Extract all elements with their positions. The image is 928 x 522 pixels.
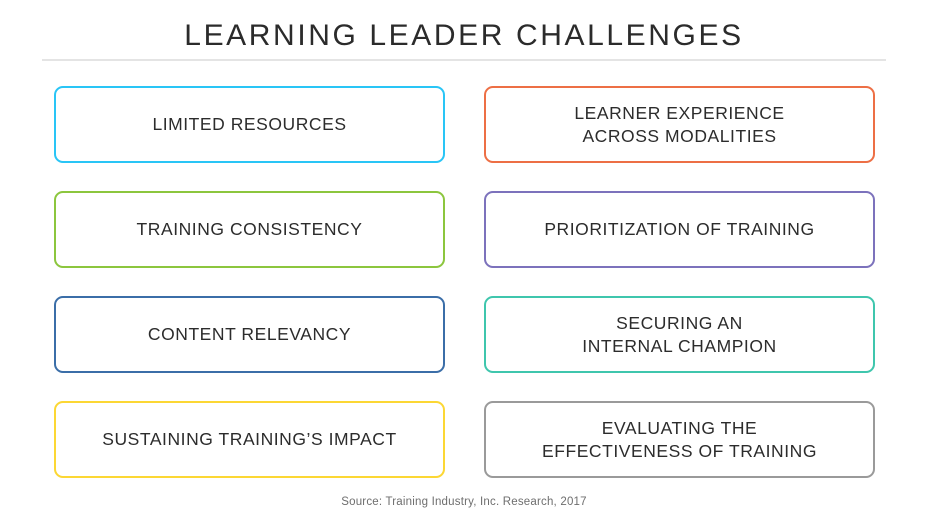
challenge-card-label: EVALUATING THE EFFECTIVENESS OF TRAINING [542,417,817,463]
title-divider [42,59,886,61]
source-note: Source: Training Industry, Inc. Research… [0,496,928,508]
challenge-card-evaluating-effectiveness[interactable]: EVALUATING THE EFFECTIVENESS OF TRAINING [484,401,875,478]
challenge-card-content-relevancy[interactable]: CONTENT RELEVANCY [54,296,445,373]
challenge-card-label: PRIORITIZATION OF TRAINING [544,218,814,241]
challenge-card-limited-resources[interactable]: LIMITED RESOURCES [54,86,445,163]
challenge-card-label: LEARNER EXPERIENCE ACROSS MODALITIES [574,102,784,148]
challenge-card-sustaining-training-impact[interactable]: SUSTAINING TRAINING’S IMPACT [54,401,445,478]
page-title: LEARNING LEADER CHALLENGES [0,18,928,54]
challenge-card-prioritization-of-training[interactable]: PRIORITIZATION OF TRAINING [484,191,875,268]
challenge-card-securing-internal-champion[interactable]: SECURING AN INTERNAL CHAMPION [484,296,875,373]
slide-canvas: LEARNING LEADER CHALLENGES LIMITED RESOU… [0,0,928,522]
challenge-card-learner-experience[interactable]: LEARNER EXPERIENCE ACROSS MODALITIES [484,86,875,163]
challenges-grid: LIMITED RESOURCES LEARNER EXPERIENCE ACR… [54,86,875,478]
challenge-card-label: SECURING AN INTERNAL CHAMPION [582,312,776,358]
challenge-card-label: SUSTAINING TRAINING’S IMPACT [102,428,396,451]
challenge-card-training-consistency[interactable]: TRAINING CONSISTENCY [54,191,445,268]
challenge-card-label: LIMITED RESOURCES [152,113,346,136]
challenge-card-label: TRAINING CONSISTENCY [137,218,363,241]
challenge-card-label: CONTENT RELEVANCY [148,323,351,346]
